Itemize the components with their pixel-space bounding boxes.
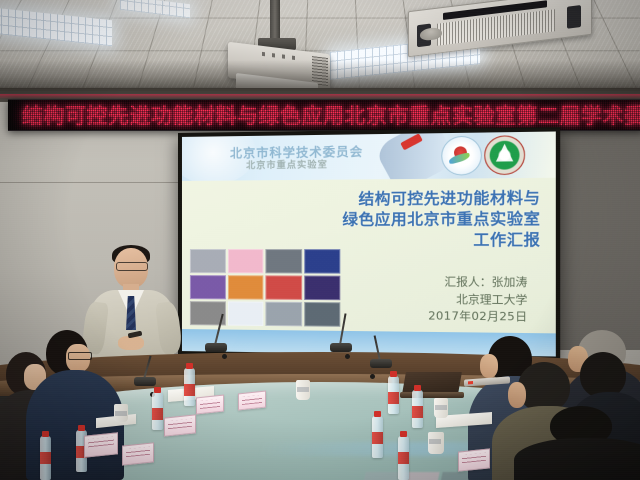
bottle-label bbox=[40, 452, 51, 464]
slide-presenter-block: 汇报人：张加涛 北京理工大学 2017年02月25日 bbox=[326, 274, 528, 327]
name-card-text bbox=[88, 437, 114, 448]
presenter-glasses bbox=[116, 262, 148, 271]
conference-room-photo: 结构可控先进功能材料与绿色应用北京市重点实验室第二届学术委员会会 北京市科学技术… bbox=[0, 0, 640, 480]
microphone-capsule bbox=[345, 354, 350, 359]
logo-leaf-shape bbox=[448, 152, 471, 164]
attendee-face bbox=[508, 382, 526, 408]
name-card-text bbox=[200, 399, 220, 409]
name-card bbox=[458, 448, 490, 471]
projector-pole bbox=[270, 0, 280, 42]
laptop-lid bbox=[402, 372, 462, 394]
slide-thumbnail-grid bbox=[190, 249, 340, 327]
purple-sphere-core bbox=[190, 275, 226, 299]
water-bottle[interactable] bbox=[372, 416, 383, 458]
bottle-label bbox=[152, 408, 163, 420]
presentation-date: 2017年02月25日 bbox=[326, 307, 528, 326]
bottle-cap bbox=[400, 431, 407, 437]
power-strip-led bbox=[468, 381, 473, 384]
microphone-base bbox=[370, 359, 392, 368]
cup-band bbox=[297, 387, 309, 392]
microphone-base bbox=[205, 343, 227, 352]
red-core-shell bbox=[265, 275, 301, 300]
attendee-front-center bbox=[524, 406, 640, 480]
cup-band bbox=[115, 411, 127, 416]
paper-cup[interactable] bbox=[428, 432, 444, 454]
ac-side-vent bbox=[567, 5, 581, 29]
water-bottle[interactable] bbox=[388, 376, 399, 414]
paper-cup[interactable] bbox=[114, 404, 128, 422]
sem-gray-texture bbox=[190, 249, 226, 273]
name-card-text bbox=[168, 419, 192, 430]
name-card-text bbox=[126, 447, 150, 458]
molecular-model bbox=[227, 301, 263, 326]
blue-dark-field bbox=[304, 249, 341, 274]
spectra-plot bbox=[304, 276, 341, 301]
pink-nanoparticle-array bbox=[227, 249, 263, 273]
slide-title-line-2: 绿色应用北京市重点实验室 bbox=[295, 209, 541, 230]
attendee-glasses bbox=[68, 352, 92, 360]
presenter-name-line: 汇报人：张加涛 bbox=[326, 274, 528, 292]
cup-band bbox=[435, 405, 447, 410]
name-card bbox=[122, 442, 154, 465]
name-card-text bbox=[242, 395, 262, 405]
name-card bbox=[196, 395, 224, 415]
presenter-affiliation: 北京理工大学 bbox=[326, 290, 528, 309]
bottle-label bbox=[372, 432, 383, 444]
nanowire-array-bw bbox=[265, 249, 301, 273]
bottle-cap bbox=[154, 387, 161, 393]
water-bottle[interactable] bbox=[40, 436, 51, 480]
ceiling bbox=[0, 0, 640, 96]
water-bottle[interactable] bbox=[398, 436, 409, 480]
bottle-label bbox=[388, 392, 399, 404]
attendee-torso bbox=[514, 438, 640, 480]
right-wall-shadow bbox=[556, 100, 640, 350]
institute-emblem-icon bbox=[484, 135, 525, 175]
slide-title-line-1: 结构可控先进功能材料与 bbox=[295, 188, 541, 210]
laptop-base bbox=[400, 392, 464, 398]
led-banner-text: 结构可控先进功能材料与绿色应用北京市重点实验室第二届学术委员会会 bbox=[22, 100, 640, 130]
name-card-text bbox=[462, 453, 486, 464]
name-card bbox=[238, 391, 266, 411]
bottle-label bbox=[398, 452, 409, 464]
slide-header-subline: 北京市重点实验室 bbox=[246, 157, 328, 171]
slide-header-banner: 北京市科学技术委员会 北京市重点实验室 bbox=[182, 131, 556, 180]
microphone-capsule bbox=[370, 374, 375, 379]
bottle-cap bbox=[186, 363, 193, 369]
led-scrolling-banner: 结构可控先进功能材料与绿色应用北京市重点实验室第二届学术委员会会 bbox=[8, 99, 640, 131]
attendee-face bbox=[480, 354, 498, 378]
nanofiber-network bbox=[304, 302, 341, 327]
bottle-label bbox=[184, 384, 195, 396]
microphone-base bbox=[134, 377, 156, 386]
wall-seam bbox=[0, 182, 200, 183]
name-card bbox=[164, 414, 196, 436]
bottle-cap bbox=[42, 431, 49, 437]
bottle-label bbox=[412, 406, 423, 418]
bottle-cap bbox=[414, 385, 421, 391]
bottle-cap bbox=[374, 411, 381, 417]
projection-screen: 北京市科学技术委员会 北京市重点实验室 结构可控先进功能材料与 绿色应用北京市重… bbox=[178, 127, 560, 361]
projector-buttons bbox=[262, 52, 296, 60]
sem-gray-texture-reflection bbox=[361, 472, 401, 480]
paper-cup[interactable] bbox=[434, 398, 448, 418]
laptop-computer[interactable] bbox=[400, 372, 462, 398]
water-bottle[interactable] bbox=[184, 368, 195, 406]
attendee-hair bbox=[518, 362, 570, 412]
bottle-cap bbox=[390, 371, 397, 377]
paper-cup[interactable] bbox=[296, 380, 310, 400]
bottle-cap bbox=[78, 425, 85, 431]
emblem-tree-shape bbox=[496, 144, 513, 162]
layered-stripes bbox=[265, 302, 301, 327]
water-bottle[interactable] bbox=[412, 390, 423, 428]
microphone-base bbox=[330, 343, 352, 352]
slide-title: 结构可控先进功能材料与 绿色应用北京市重点实验室 工作汇报 bbox=[295, 188, 541, 250]
water-bottle[interactable] bbox=[152, 392, 163, 430]
presentation-slide: 北京市科学技术委员会 北京市重点实验室 结构可控先进功能材料与 绿色应用北京市重… bbox=[182, 131, 556, 356]
name-card bbox=[84, 432, 118, 458]
cup-band bbox=[429, 439, 441, 444]
orange-crystal-lattice bbox=[227, 275, 263, 299]
committee-logo-icon bbox=[441, 136, 482, 176]
microphone-capsule bbox=[222, 354, 227, 359]
slide-title-line-3: 工作汇报 bbox=[295, 230, 541, 251]
